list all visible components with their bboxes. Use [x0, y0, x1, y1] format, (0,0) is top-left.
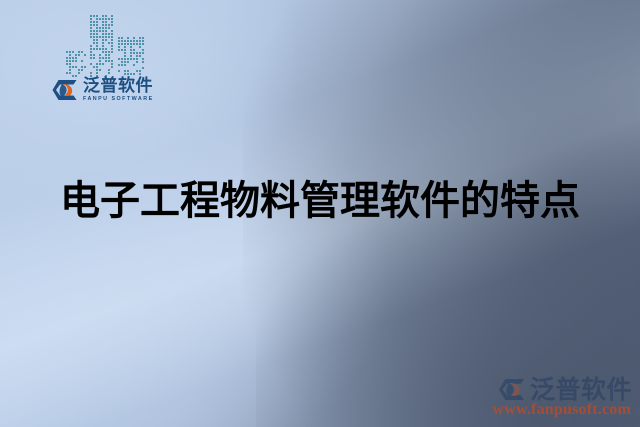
watermark-logo: 泛普软件 — [498, 377, 632, 402]
fanpu-logo-name-cn: 泛普软件 — [83, 78, 154, 95]
fanpu-logo-wordmark: 泛普软件 FANPU SOFTWARE — [83, 78, 154, 102]
watermark-name-cn: 泛普软件 — [530, 377, 632, 402]
fanpu-logo-mark-icon — [52, 79, 78, 101]
fanpu-logo-mark-watermark-icon — [498, 378, 526, 401]
pixel-glyph-pattern-icon — [66, 11, 154, 77]
watermark: 泛普软件 www.fanpusoft.com — [460, 377, 632, 419]
promo-banner: 泛普软件 FANPU SOFTWARE 电子工程物料管理软件的特点 泛普软件 w… — [0, 0, 640, 427]
page-title: 电子工程物料管理软件的特点 — [0, 180, 640, 222]
watermark-url: www.fanpusoft.com — [492, 401, 631, 419]
fanpu-logo-name-en: FANPU SOFTWARE — [83, 97, 154, 102]
fanpu-logo: 泛普软件 FANPU SOFTWARE — [52, 78, 154, 102]
